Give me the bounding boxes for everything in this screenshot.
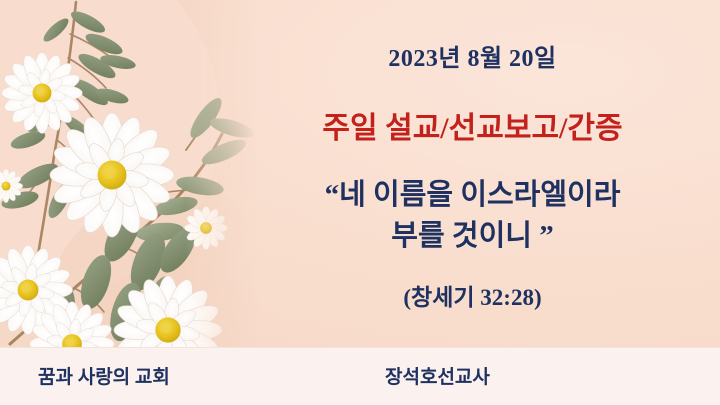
scripture-quote: “네 이름을 이스라엘이라 부를 것이니 ” [225,175,720,257]
floral-artwork [0,0,258,348]
footer-bar: 꿈과 사랑의 교회 장석호선교사 [0,347,720,405]
scripture-quote-line-1: “네 이름을 이스라엘이라 [225,175,720,216]
speaker-name: 장석호선교사 [385,362,490,389]
floral-decoration-image [0,0,258,348]
daisy-large-center [50,113,174,237]
daisy-top-left [2,53,83,134]
scripture-quote-line-2: 부를 것이니 ” [225,216,720,257]
sermon-slide: 2023년 8월 20일 주일 설교/선교보고/간증 “네 이름을 이스라엘이라… [0,0,720,405]
slide-content: 2023년 8월 20일 주일 설교/선교보고/간증 “네 이름을 이스라엘이라… [225,0,720,348]
service-title: 주일 설교/선교보고/간증 [225,103,720,147]
scripture-reference: (창세기 32:28) [225,278,720,312]
church-name: 꿈과 사랑의 교회 [38,362,170,389]
service-date: 2023년 8월 20일 [225,38,720,73]
